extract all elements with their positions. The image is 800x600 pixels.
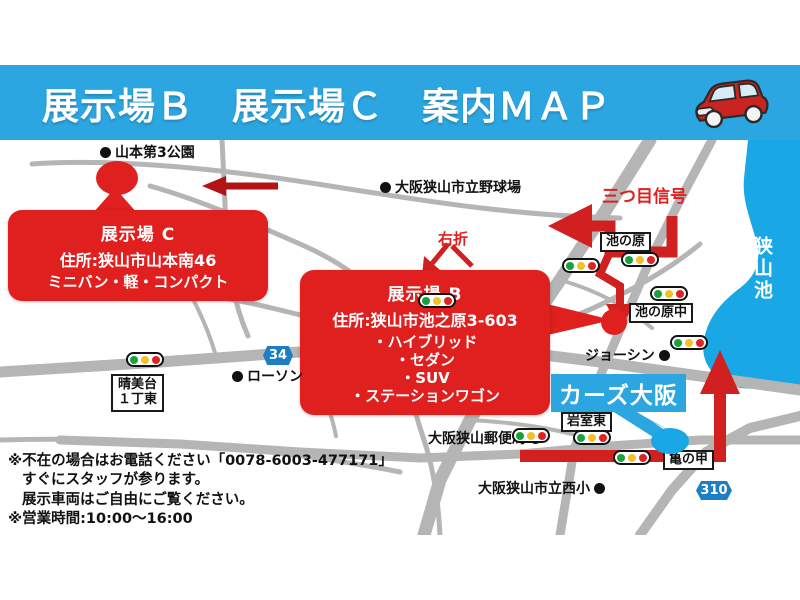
destination-label-cars-osaka[interactable]: カーズ大阪 [551, 374, 686, 412]
boxed-label-ikenohara-naka: 池の原中 [629, 303, 693, 323]
poi-label: 大阪狭山郵便局 [428, 428, 526, 448]
traffic-signal-icon [670, 335, 708, 350]
red-car-icon [686, 75, 772, 131]
showroom-c-callout[interactable]: 展示場 C 住所:狭山市山本南46 ミニバン・軽・コンパクト [8, 210, 268, 301]
poi-dot-icon [100, 147, 111, 158]
map-flyer-page: 展示場Ｂ 展示場Ｃ 案内ＭＡＰ [0, 0, 800, 600]
boxed-label-line: 亀の甲 [669, 453, 708, 467]
annotation-third-signal: 三つ目信号 [602, 182, 687, 207]
showroom-c-address: 住所:狭山市山本南46 [22, 247, 254, 271]
showroom-b-item-1: ・セダン [314, 351, 536, 369]
poi-dot-icon [659, 350, 670, 361]
traffic-signal-icon [562, 258, 600, 273]
showroom-c-item-0: ミニバン・軽・コンパクト [22, 273, 254, 291]
traffic-signal-icon [613, 450, 651, 465]
poi-baseball-stadium: 大阪狭山市立野球場 [380, 177, 521, 197]
poi-nishi-elementary: 大阪狭山市立西小 [478, 478, 605, 498]
route-shield-34: 34 [263, 346, 293, 365]
poi-yamamoto-3rd-park: 山本第3公園 [100, 142, 195, 162]
poi-dot-icon [594, 483, 605, 494]
boxed-label-line: 晴美台 [118, 378, 157, 393]
poi-label: 大阪狭山市立西小 [478, 478, 590, 498]
footer-note-1: すぐにスタッフが参ります。 [8, 471, 438, 490]
traffic-signal-icon [621, 252, 659, 267]
poi-label: 大阪狭山市立野球場 [395, 177, 521, 197]
lake-label-sayama-ike: 狭山池 [752, 236, 771, 302]
boxed-label-line: 岩室東 [567, 415, 606, 429]
boxed-label-iwamuro-higashi: 岩室東 [561, 412, 612, 432]
poi-joshin: ジョーシン [585, 345, 670, 365]
showroom-b-item-2: ・SUV [314, 369, 536, 387]
route-shield-310: 310 [696, 481, 732, 500]
showroom-b-callout[interactable]: 展示場 B 住所:狭山市池之原3-603 ・ハイブリッド ・セダン ・SUV ・… [300, 270, 550, 415]
traffic-signal-icon [418, 293, 456, 308]
boxed-label-line: 池の原 [606, 235, 645, 249]
poi-label: 山本第3公園 [115, 142, 195, 162]
poi-lawson: ローソン [232, 366, 303, 386]
poi-label: ローソン [247, 366, 303, 386]
page-title: 展示場Ｂ 展示場Ｃ 案内ＭＡＰ [42, 76, 612, 130]
boxed-label-line: 池の原中 [635, 306, 687, 320]
footer-note-2: 展示車両はご自由にご覧ください。 [8, 491, 438, 510]
showroom-c-title: 展示場 C [22, 220, 254, 245]
poi-label: ジョーシン [585, 345, 655, 365]
boxed-label-ikenohara: 池の原 [600, 232, 651, 252]
traffic-signal-icon [573, 430, 611, 445]
poi-dot-icon [380, 182, 391, 193]
traffic-signal-icon [126, 352, 164, 367]
showroom-b-address: 住所:狭山市池之原3-603 [314, 307, 536, 331]
showroom-b-item-3: ・ステーションワゴン [314, 387, 536, 405]
footer-note-3: ※営業時間:10:00～16:00 [8, 510, 438, 529]
destination-marker-dot [651, 428, 689, 454]
header-banner: 展示場Ｂ 展示場Ｃ 案内ＭＡＰ [0, 65, 800, 140]
footer-notes: ※不在の場合はお電話ください「0078-6003-477171」 すぐにスタッフ… [8, 452, 438, 529]
traffic-signal-icon [650, 286, 688, 301]
boxed-label-harumidai: 晴美台 １丁東 [111, 374, 164, 412]
annotation-turn-right: 右折 [438, 228, 468, 249]
footer-note-0: ※不在の場合はお電話ください「0078-6003-477171」 [8, 452, 438, 471]
boxed-label-line: １丁東 [118, 393, 157, 408]
traffic-signal-icon [512, 428, 550, 443]
poi-dot-icon [232, 371, 243, 382]
showroom-b-item-0: ・ハイブリッド [314, 333, 536, 351]
